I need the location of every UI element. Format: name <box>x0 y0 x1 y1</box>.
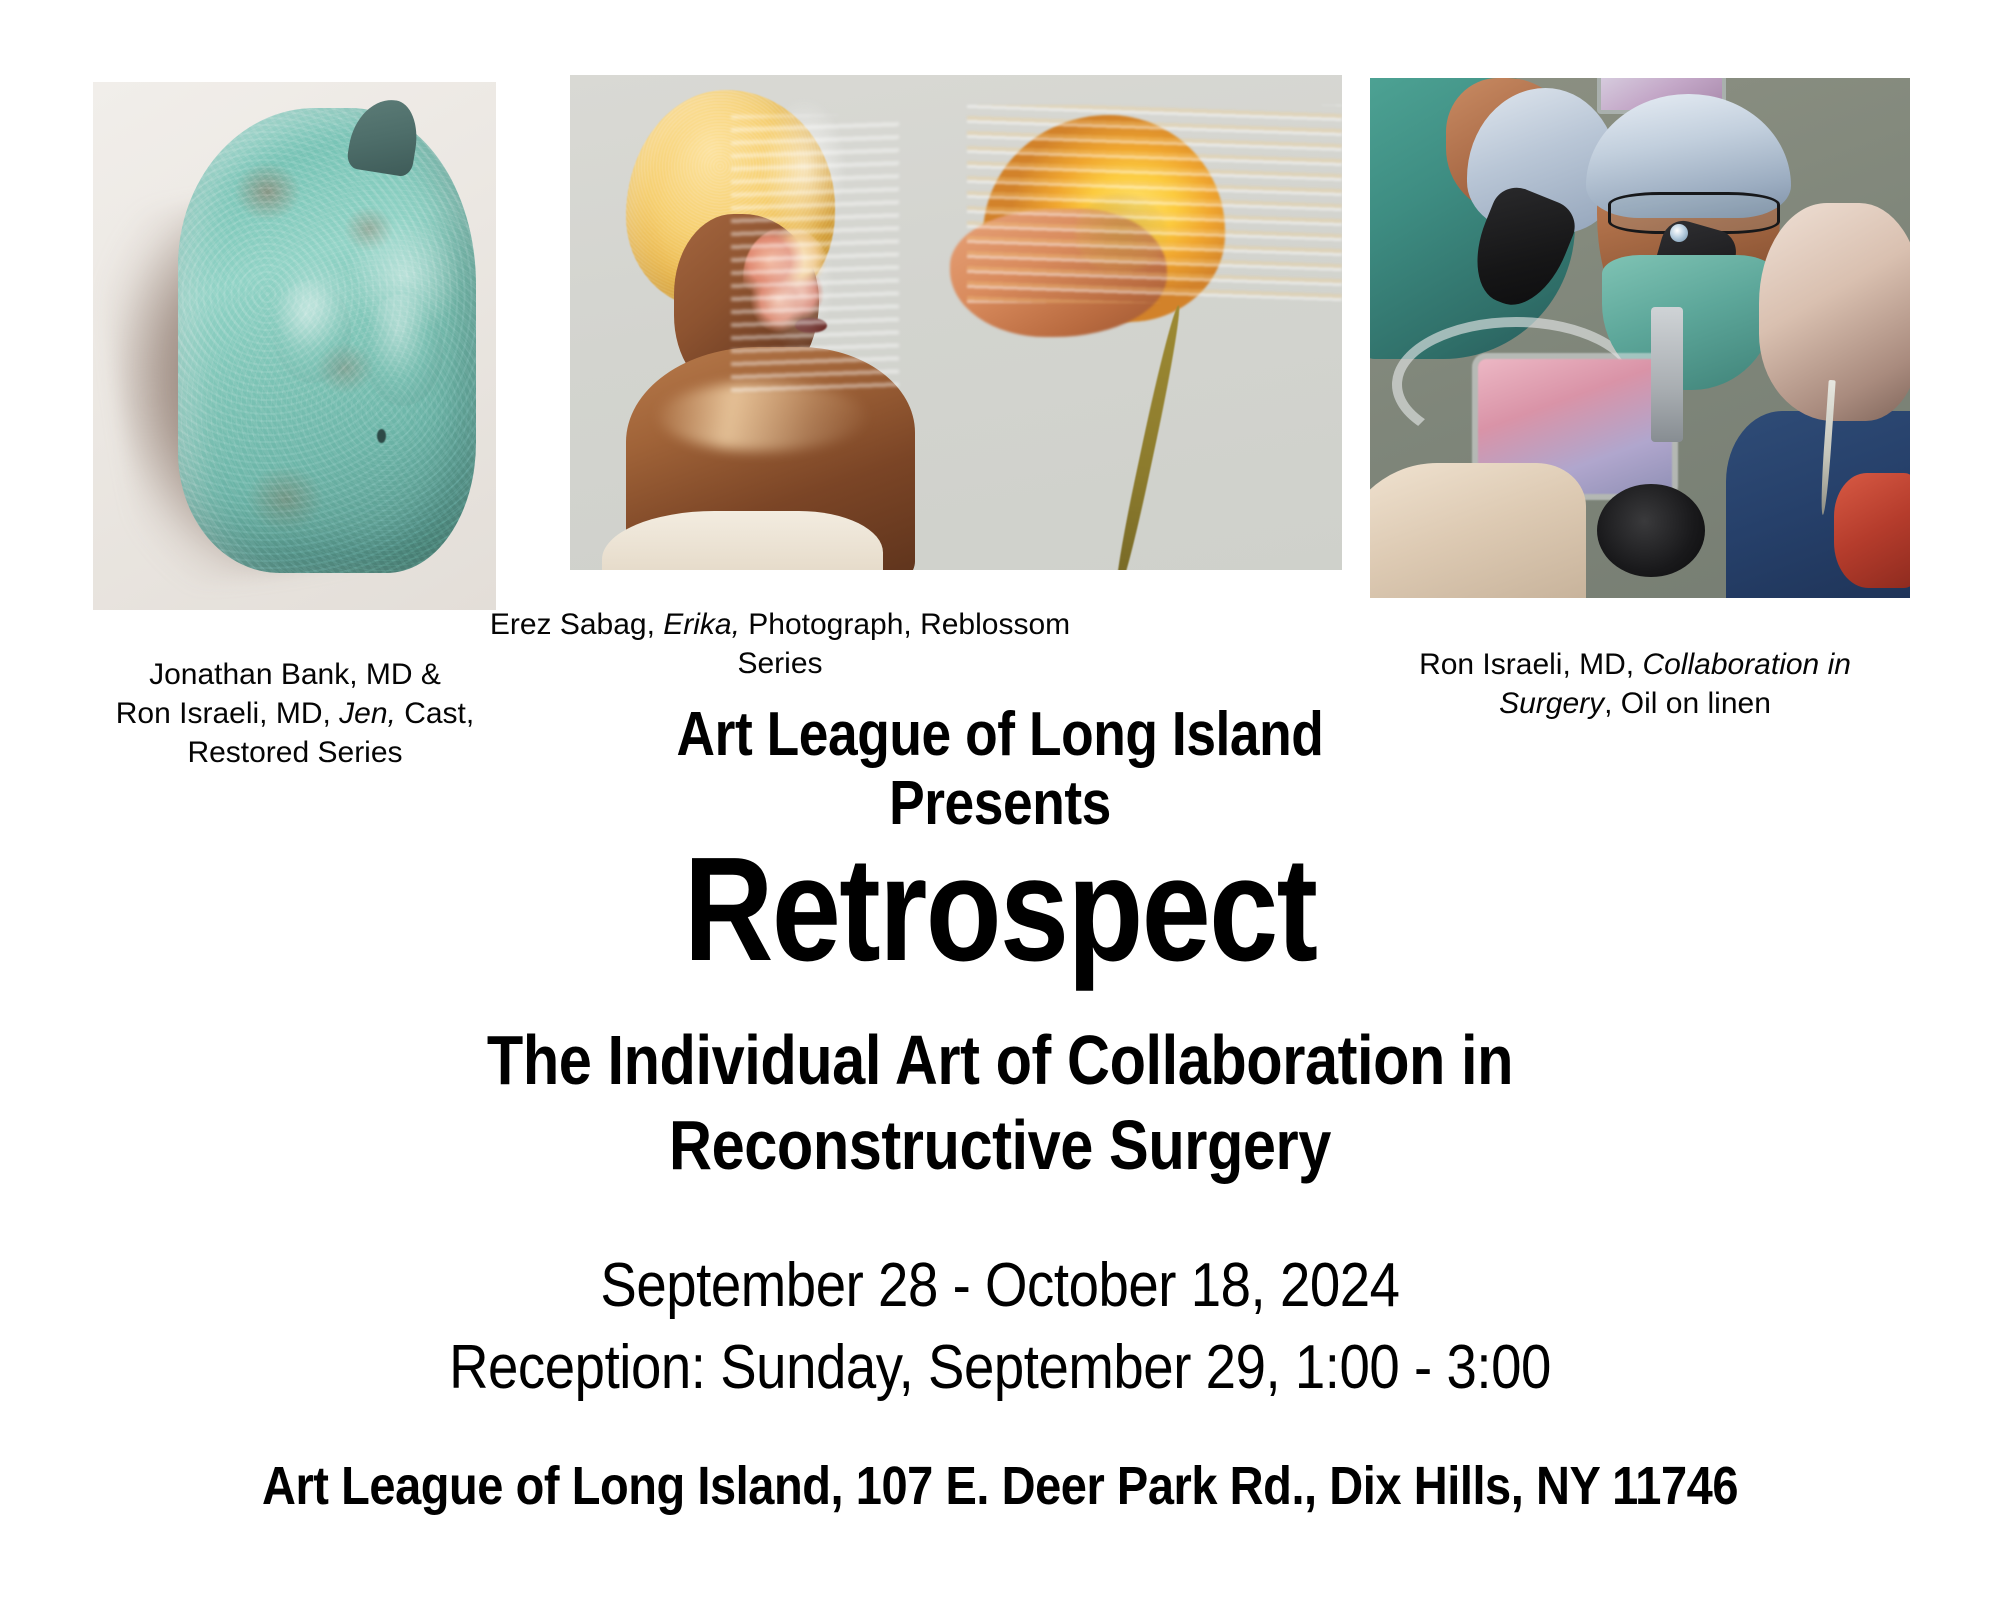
exhibition-subtitle: The Individual Art of Collaboration in R… <box>150 1018 1850 1189</box>
reception-info: Reception: Sunday, September 29, 1:00 - … <box>120 1327 1880 1409</box>
caption-center-title: Erika, <box>663 608 740 641</box>
caption-center-pre: Erez Sabag, <box>490 608 663 641</box>
subtitle-line-1: The Individual Art of Collaboration in <box>150 1018 1850 1103</box>
surgical-field <box>1834 473 1910 587</box>
tulip-stem <box>1112 304 1185 570</box>
torso-breast-right <box>363 294 444 406</box>
torso-breast-left <box>273 280 351 382</box>
torso-neck-stump <box>345 94 421 178</box>
date-range: September 28 - October 18, 2024 <box>120 1245 1880 1327</box>
portrait-subject <box>570 75 971 570</box>
loupe-headlight <box>1670 224 1688 242</box>
presenter-line-1: Art League of Long Island <box>140 700 1860 769</box>
artwork-image-reblossom-photograph <box>570 75 1342 570</box>
caption-left-line1: Jonathan Bank, MD & <box>149 658 441 691</box>
venue-address: Art League of Long Island, 107 E. Deer P… <box>130 1455 1870 1517</box>
or-light-knob <box>1597 484 1705 578</box>
artwork-image-collaboration-in-surgery-painting <box>1370 78 1910 598</box>
tulip-subject <box>925 75 1342 570</box>
artwork-image-bronze-torso-cast <box>93 82 496 610</box>
caption-center-post: Photograph, Reblossom Series <box>737 608 1070 680</box>
exhibition-poster: Jonathan Bank, MD & Ron Israeli, MD, Jen… <box>0 0 2000 1600</box>
torso-cast-body <box>178 108 476 573</box>
patient-drape <box>1370 463 1586 598</box>
motion-blur-streaks <box>731 115 900 392</box>
exhibition-dates: September 28 - October 18, 2024 Receptio… <box>120 1245 1880 1409</box>
caption-right-pre: Ron Israeli, MD, <box>1419 648 1642 681</box>
or-light-pole <box>1651 307 1683 442</box>
presenter-heading: Art League of Long Island Presents <box>140 700 1860 839</box>
exhibition-title: Retrospect <box>160 836 1840 984</box>
subtitle-line-2: Reconstructive Surgery <box>150 1103 1850 1188</box>
tulip-motion-streaks <box>967 105 1342 303</box>
artwork-caption-center: Erez Sabag, Erika, Photograph, Reblossom… <box>470 605 1090 683</box>
